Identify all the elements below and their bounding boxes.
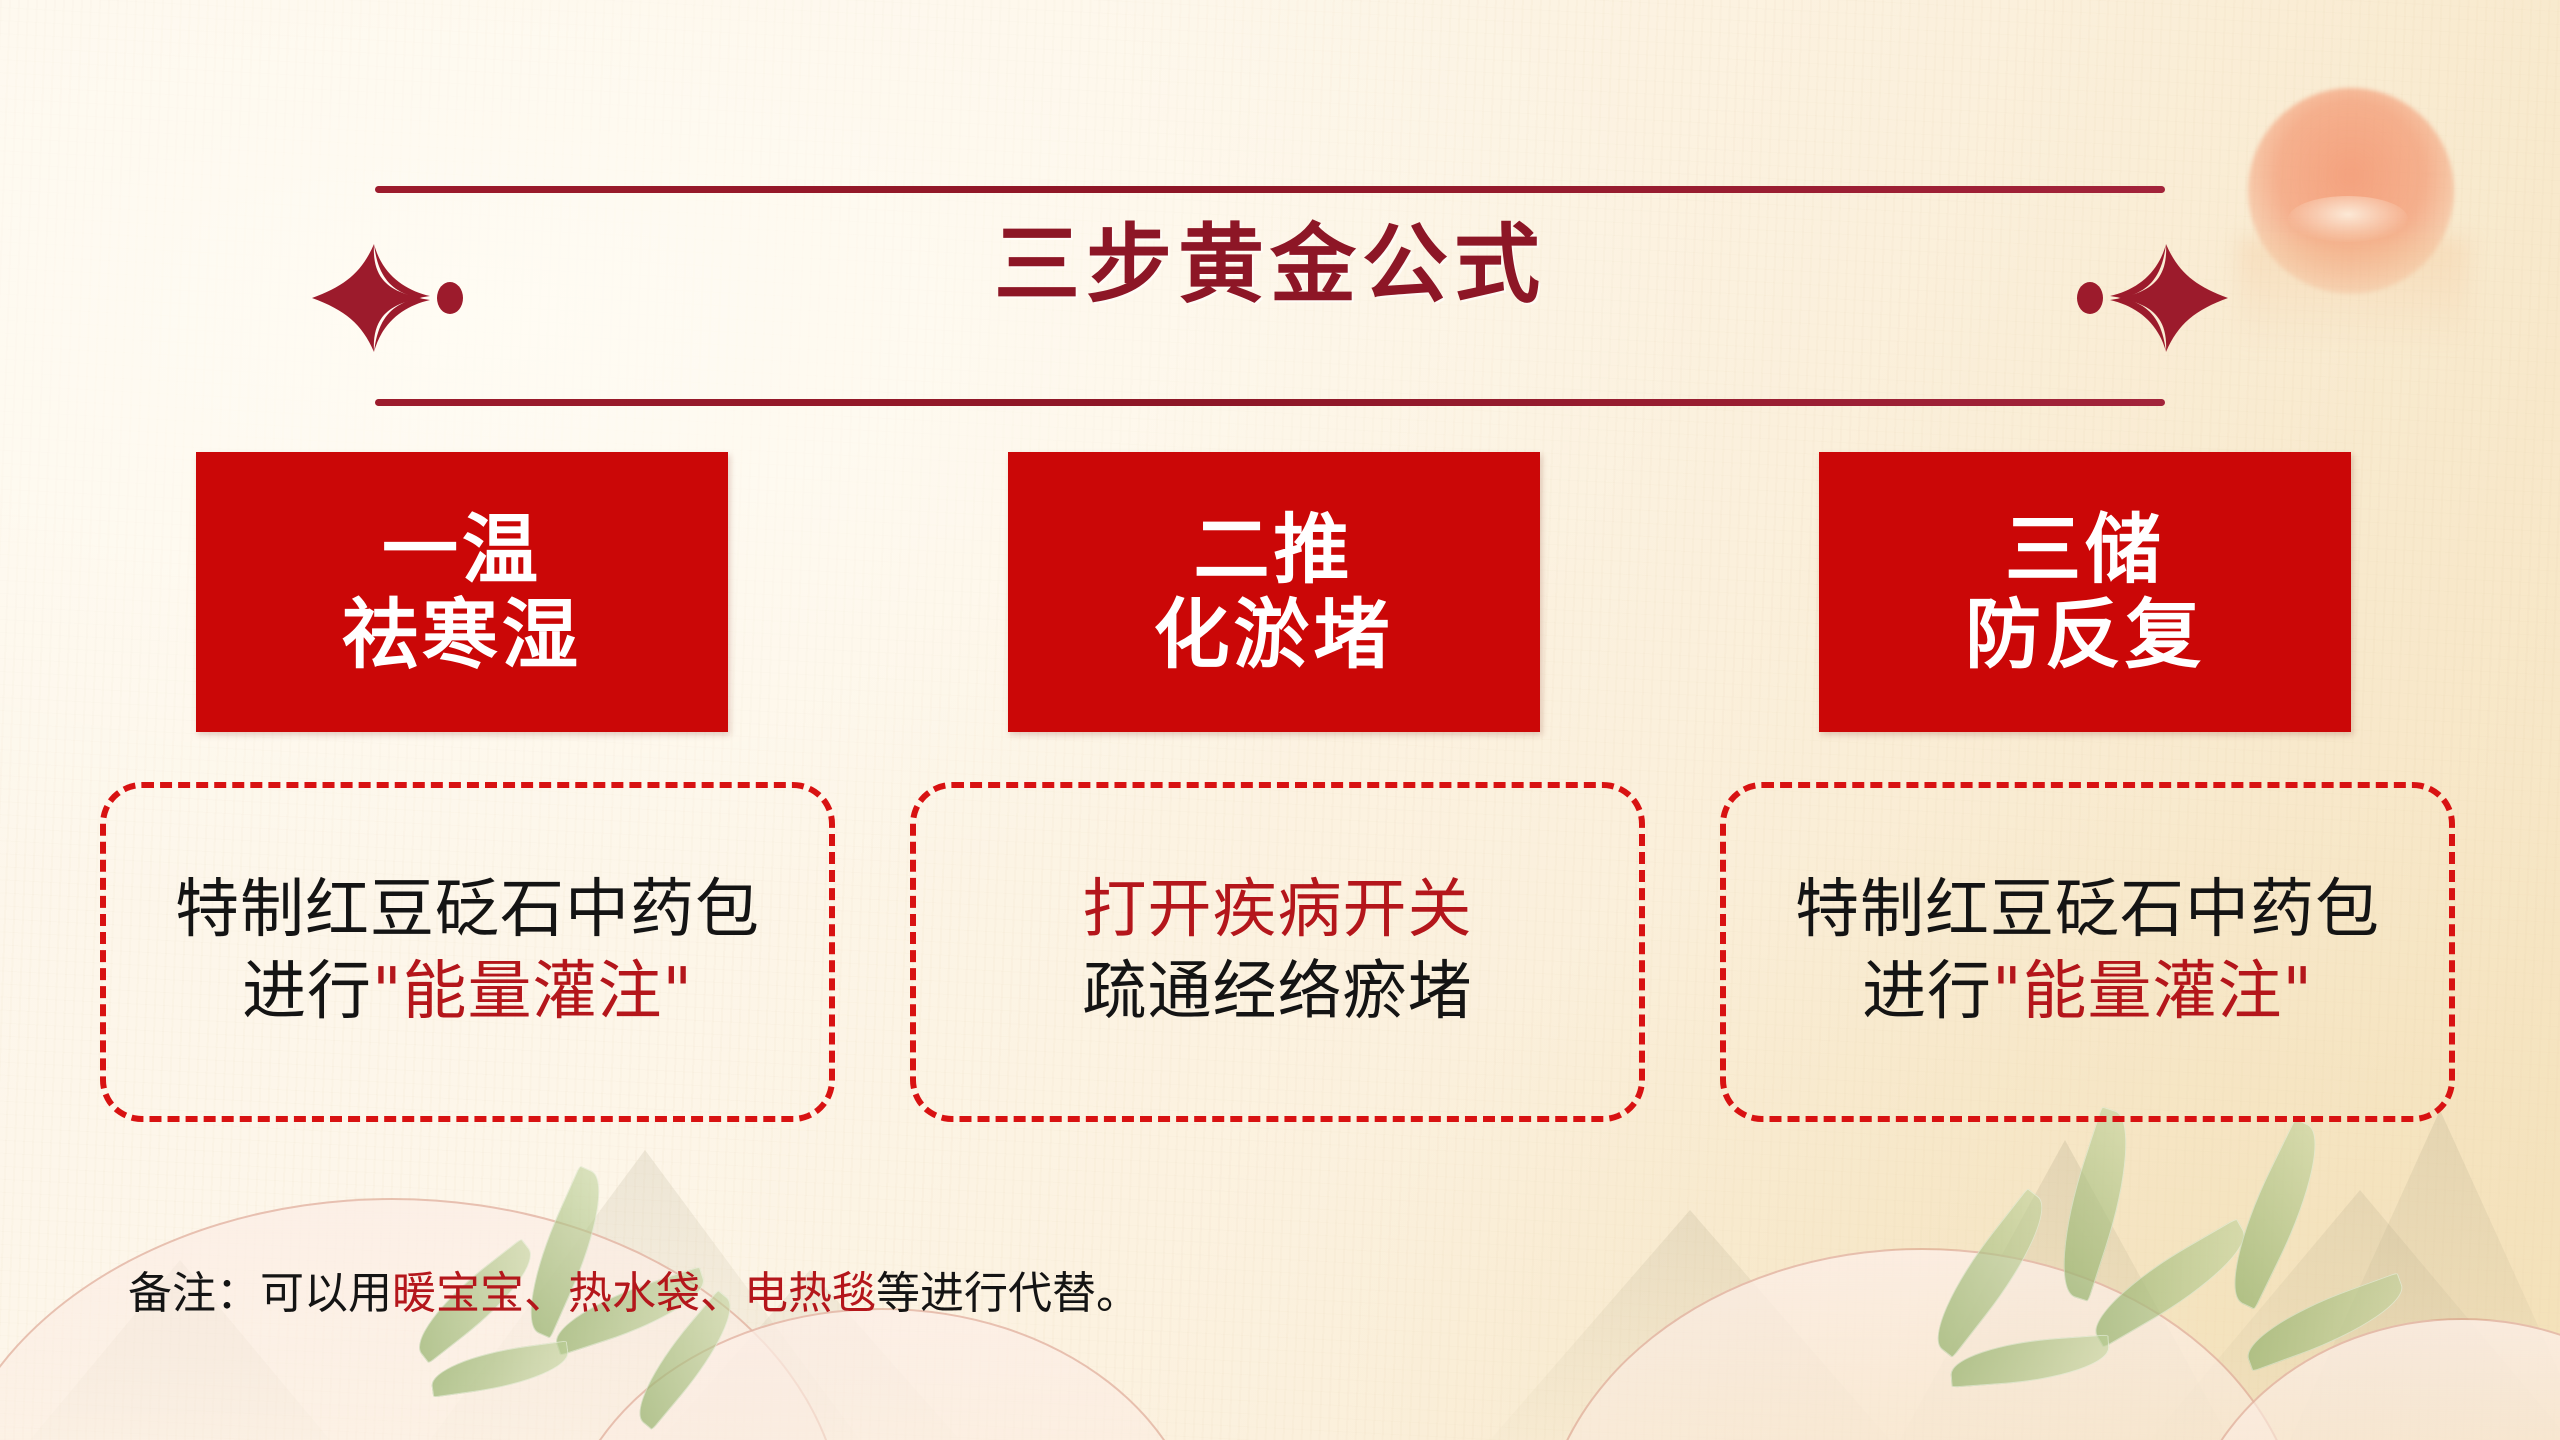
step-detail-3[interactable]: 特制红豆砭石中药包 进行"能量灌注" [1720,782,2455,1122]
step-detail-3-line1: 特制红豆砭石中药包 [1795,870,2380,952]
step-detail-3-line2: 进行"能量灌注" [1862,952,2313,1034]
step-detail-2-line2: 疏通经络瘀堵 [1083,952,1473,1034]
footnote: 备注：可以用暖宝宝、热水袋、电热毯等进行代替。 [128,1272,1140,1316]
step-detail-3-line2-black: 进行 [1862,955,1992,1029]
step-badge-2-line1: 二推 [1194,507,1354,592]
step-detail-2[interactable]: 打开疾病开关 疏通经络瘀堵 [910,782,1645,1122]
footnote-highlight: 暖宝宝、热水袋、电热毯 [392,1268,876,1319]
step-detail-3-line2-red: "能量灌注" [1992,955,2313,1029]
step-detail-1-line1: 特制红豆砭石中药包 [175,870,760,952]
sun-cloud-notch-icon [2288,196,2408,242]
step-badge-2-line2: 化淤堵 [1154,592,1394,677]
step-badge-1-line1: 一温 [382,507,542,592]
leaf-cluster-right [1880,1140,2440,1440]
page-title: 三步黄金公式 [320,222,2220,308]
step-detail-1-line2-black: 进行 [242,955,372,1029]
step-detail-1-line2: 进行"能量灌注" [242,952,693,1034]
step-badge-3-line2: 防反复 [1965,592,2205,677]
poster-canvas: 三步黄金公式 一温 祛寒湿 二推 化淤堵 三储 防反复 特制红豆砭石中药包 进行… [0,0,2560,1440]
step-badge-3-line1: 三储 [2005,507,2165,592]
step-badge-2[interactable]: 二推 化淤堵 [1008,452,1540,732]
step-badge-1-line2: 祛寒湿 [342,592,582,677]
footnote-suffix: 等进行代替。 [876,1268,1140,1319]
footnote-prefix: 备注：可以用 [128,1268,392,1319]
title-rule-top [375,186,2165,193]
step-detail-1-line2-red: "能量灌注" [372,955,693,1029]
title-rule-bottom [375,399,2165,406]
step-detail-1[interactable]: 特制红豆砭石中药包 进行"能量灌注" [100,782,835,1122]
sun-glow [2238,238,2468,348]
step-badges: 一温 祛寒湿 二推 化淤堵 三储 防反复 [196,452,2351,732]
step-details: 特制红豆砭石中药包 进行"能量灌注" 打开疾病开关 疏通经络瘀堵 特制红豆砭石中… [100,782,2455,1122]
step-badge-3[interactable]: 三储 防反复 [1819,452,2351,732]
title-banner: 三步黄金公式 [320,186,2220,406]
step-detail-2-line1: 打开疾病开关 [1083,870,1473,952]
step-badge-1[interactable]: 一温 祛寒湿 [196,452,728,732]
